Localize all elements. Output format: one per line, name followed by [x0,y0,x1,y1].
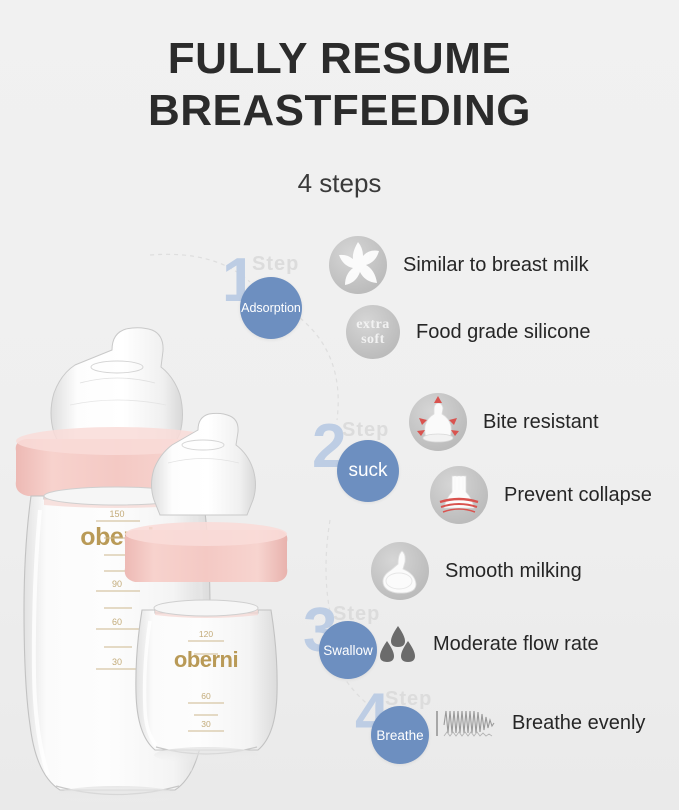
feature-food-grade-silicone-label: Food grade silicone [416,321,591,344]
step-1: 1 Step Adsorption [222,246,342,326]
feature-moderate-flow-rate-label: Moderate flow rate [433,633,599,656]
extra-soft-badge-icon: extra soft [346,305,400,359]
nipple-top-view-icon [371,542,429,600]
product-bottles-image: oberni 150 90 60 30 [0,255,330,810]
step-3-badge-label: Swallow [323,643,373,658]
feature-smooth-milking-label: Smooth milking [445,560,582,583]
step-2-badge-label: suck [348,460,387,482]
feature-moderate-flow-rate: Moderate flow rate [377,624,599,664]
step-2-badge: suck [337,440,399,502]
extra-soft-text: extra soft [356,317,390,347]
step-1-step-word: Step [252,254,299,274]
svg-text:30: 30 [201,719,211,729]
svg-text:oberni: oberni [174,647,238,672]
step-3-badge: Swallow [319,621,377,679]
step-1-badge: Adsorption [240,277,302,339]
feature-bite-resistant: Bite resistant [409,393,599,451]
water-droplets-icon [377,624,419,664]
breathing-waveform-icon [434,703,502,743]
feature-similar-to-breast-milk-label: Similar to breast milk [403,254,589,277]
nipple-anti-collapse-icon [430,466,488,524]
feature-food-grade-silicone: extra soft Food grade silicone [346,305,591,359]
step-2-step-word: Step [342,420,389,440]
svg-text:60: 60 [201,691,211,701]
step-4-badge: Breathe [371,706,429,764]
svg-text:90: 90 [112,579,122,589]
feature-smooth-milking: Smooth milking [371,542,582,600]
nipple-bite-resistant-icon [409,393,467,451]
infographic-canvas: FULLY RESUME BREASTFEEDING 4 steps [0,0,679,810]
feature-prevent-collapse: Prevent collapse [430,466,652,524]
svg-text:60: 60 [112,617,122,627]
feature-breathe-evenly: Breathe evenly [434,703,645,743]
svg-text:150: 150 [109,509,124,519]
extra-soft-line-1: extra [356,317,390,332]
step-1-badge-label: Adsorption [241,301,301,315]
svg-text:120: 120 [199,629,213,639]
extra-soft-line-2: soft [356,332,390,347]
svg-text:30: 30 [112,657,122,667]
feature-similar-to-breast-milk: Similar to breast milk [329,236,589,294]
feature-breathe-evenly-label: Breathe evenly [512,712,645,735]
feature-bite-resistant-label: Bite resistant [483,411,599,434]
step-4-badge-label: Breathe [376,728,423,743]
feature-prevent-collapse-label: Prevent collapse [504,484,652,507]
nipple-cross-section-icon [329,236,387,294]
